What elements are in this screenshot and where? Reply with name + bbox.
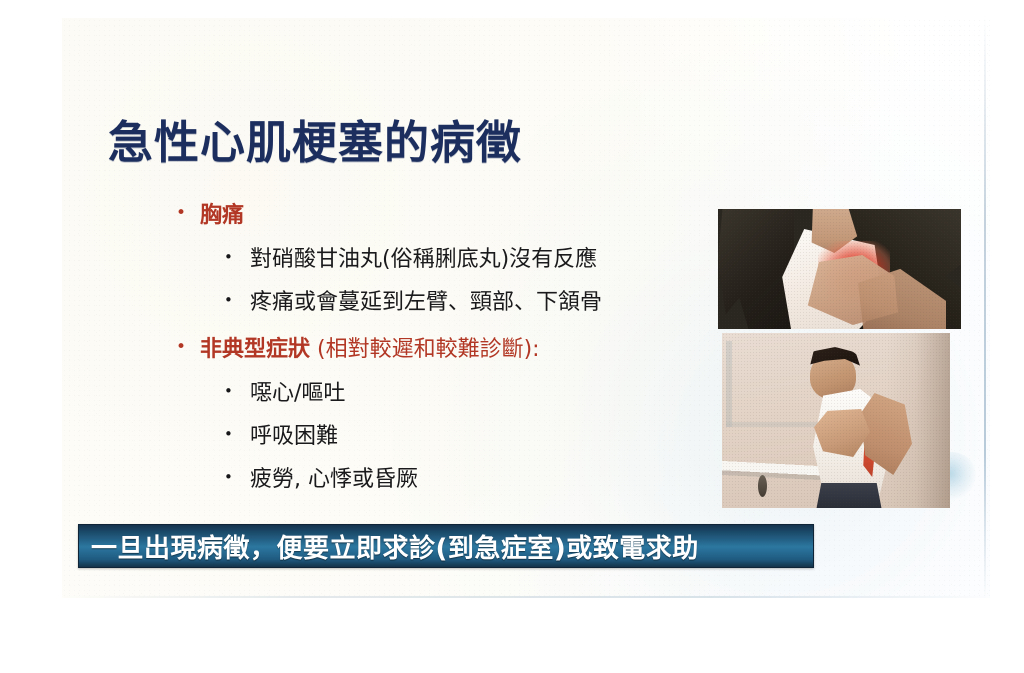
bullet-list: • 胸痛 • 對硝酸甘油丸(俗稱脷底丸)沒有反應 • 疼痛或會蔓延到左臂、頸部、…	[176, 200, 696, 501]
list-item-label: 疼痛或會蔓延到左臂、頸部、下頷骨	[250, 281, 602, 324]
list-item-label: 呼吸困難	[250, 415, 338, 458]
page-title: 急性心肌梗塞的病徵	[108, 106, 522, 171]
chest-pain-photo	[718, 209, 961, 329]
list-item-label: 疲勞, 心悸或昏厥	[250, 458, 418, 501]
bullet-dot-icon: •	[224, 384, 250, 399]
photo-shape-suit-left	[718, 209, 794, 329]
bullet-level1-atypical-symptoms: • 非典型症狀 (相對較遲和較難診斷):	[176, 334, 696, 366]
list-item-label: 噁心/嘔吐	[250, 372, 345, 415]
photo-shape-jeans	[816, 483, 882, 508]
slide-edge-right	[984, 18, 986, 598]
man-leaning-wall-photo	[722, 333, 950, 508]
list-item: • 疲勞, 心悸或昏厥	[224, 458, 696, 501]
bullet-dot-icon: •	[176, 205, 200, 222]
list-item: • 疼痛或會蔓延到左臂、頸部、下頷骨	[224, 281, 696, 324]
bullet-level1-label: 非典型症狀 (相對較遲和較難診斷):	[200, 334, 540, 366]
slide-photo: 急性心肌梗塞的病徵 • 胸痛 • 對硝酸甘油丸(俗稱脷底丸)沒有反應 • 疼痛或…	[0, 0, 1024, 673]
list-item: • 呼吸困難	[224, 415, 696, 458]
list-item: • 噁心/嘔吐	[224, 372, 696, 415]
list-item-label: 對硝酸甘油丸(俗稱脷底丸)沒有反應	[250, 238, 597, 281]
bullet-dot-icon: •	[224, 470, 250, 485]
bullet-dot-icon: •	[176, 339, 200, 356]
call-to-action-banner: 一旦出現病徵，便要立即求診(到急症室)或致電求助	[78, 524, 814, 568]
bullet-dot-icon: •	[224, 250, 250, 265]
slide-edge-bottom	[62, 596, 990, 598]
bullet-dot-icon: •	[224, 293, 250, 308]
photo-shape-rail-post	[758, 475, 767, 497]
list-item: • 對硝酸甘油丸(俗稱脷底丸)沒有反應	[224, 238, 696, 281]
bullet-level1-label: 胸痛	[200, 200, 244, 232]
bullet-dot-icon: •	[224, 427, 250, 442]
bullet-level1-chest-pain: • 胸痛	[176, 200, 696, 232]
banner-text: 一旦出現病徵，便要立即求診(到急症室)或致電求助	[91, 528, 699, 565]
photo-shape-wall-graffiti	[726, 341, 818, 427]
